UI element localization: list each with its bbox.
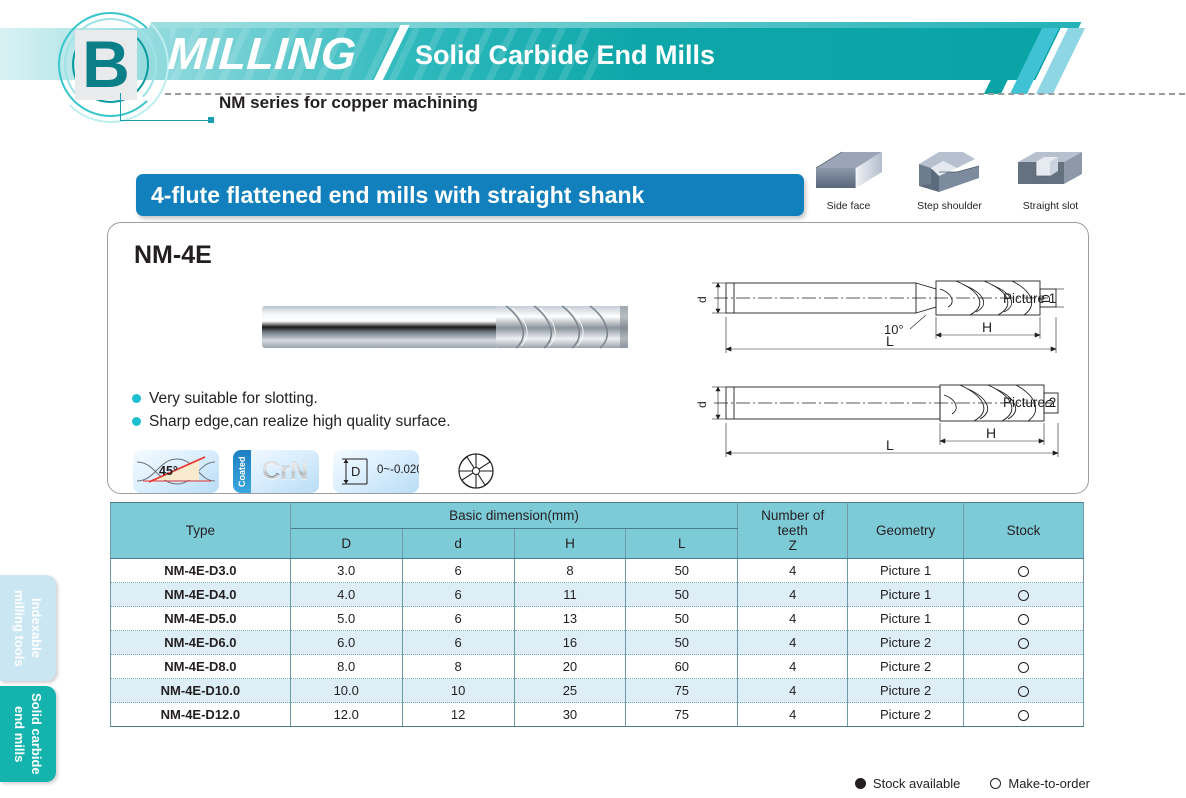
cell-stock — [964, 583, 1084, 607]
cell-type: NM-4E-D8.0 — [111, 655, 291, 679]
col-header-d: d — [402, 529, 514, 559]
dim-H-label: H — [982, 319, 992, 335]
operation-label: Step shoulder — [913, 200, 986, 212]
stock-open-icon — [1018, 590, 1029, 601]
cell-teeth: 4 — [738, 583, 848, 607]
cell-D: 6.0 — [290, 631, 402, 655]
cell-H: 8 — [514, 559, 626, 583]
picture-1-label: Picture 1 — [1003, 291, 1056, 306]
table-row[interactable]: NM-4E-D12.0 12.0 12 30 75 4 Picture 2 — [111, 703, 1084, 727]
product-name: NM-4E — [134, 241, 212, 270]
diameter-tolerance-icon: D — [333, 450, 373, 493]
dim-L-label: L — [886, 437, 894, 453]
cell-teeth: 4 — [738, 607, 848, 631]
tolerance-value: 0~-0.020 — [377, 464, 419, 476]
badge-helix-angle: 45° — [133, 450, 219, 493]
sidebar-tab-solid-carbide-end-mills[interactable]: Solid carbideend mills — [0, 686, 56, 782]
straight-slot-icon — [1014, 148, 1087, 194]
cell-H: 20 — [514, 655, 626, 679]
teeth-line-1: Number of — [740, 508, 845, 523]
sidebar-tab-indexable-milling-tools[interactable]: Indexablemilling tools — [0, 575, 56, 681]
table-row[interactable]: NM-4E-D10.0 10.0 10 25 75 4 Picture 2 — [111, 679, 1084, 703]
coating-type: CrN — [253, 454, 317, 489]
step-shoulder-icon — [913, 148, 986, 194]
stock-open-icon — [1018, 614, 1029, 625]
stock-legend: Stock available Make-to-order — [855, 776, 1090, 791]
bullet-dot-icon — [132, 394, 141, 403]
cell-D: 8.0 — [290, 655, 402, 679]
cell-D: 10.0 — [290, 679, 402, 703]
cell-H: 25 — [514, 679, 626, 703]
make-to-order-icon — [990, 778, 1001, 789]
col-header-H: H — [514, 529, 626, 559]
series-leader-dot — [208, 117, 214, 123]
cell-stock — [964, 559, 1084, 583]
stock-open-icon — [1018, 662, 1029, 673]
cell-D: 3.0 — [290, 559, 402, 583]
dim-L-label: L — [886, 333, 894, 349]
cell-L: 75 — [626, 679, 738, 703]
col-header-basic-dimension: Basic dimension(mm) — [290, 503, 737, 529]
cell-d: 8 — [402, 655, 514, 679]
cell-teeth: 4 — [738, 631, 848, 655]
legend-made-to-order-label: Make-to-order — [1008, 776, 1090, 791]
teeth-line-3: Z — [740, 538, 845, 553]
specification-table-body: NM-4E-D3.0 3.0 6 8 50 4 Picture 1 NM-4E-… — [111, 559, 1084, 727]
table-row[interactable]: NM-4E-D6.0 6.0 6 16 50 4 Picture 2 — [111, 631, 1084, 655]
col-header-teeth: Number of teeth Z — [738, 503, 848, 559]
cell-L: 50 — [626, 559, 738, 583]
feature-item: Very suitable for slotting. — [132, 388, 451, 409]
product-photo — [260, 298, 630, 356]
cell-geometry: Picture 2 — [848, 679, 964, 703]
cell-d: 6 — [402, 559, 514, 583]
picture-2-label: Picture 2 — [1003, 395, 1056, 410]
cell-L: 75 — [626, 703, 738, 727]
cell-type: NM-4E-D12.0 — [111, 703, 291, 727]
cell-H: 30 — [514, 703, 626, 727]
cell-teeth: 4 — [738, 703, 848, 727]
operation-label: Straight slot — [1014, 200, 1087, 212]
operation-icons: Side face Step shoulder Straight slot — [812, 148, 1088, 218]
cell-L: 50 — [626, 583, 738, 607]
feature-text: Sharp edge,can realize high quality surf… — [149, 411, 451, 432]
table-row[interactable]: NM-4E-D8.0 8.0 8 20 60 4 Picture 2 — [111, 655, 1084, 679]
cell-L: 50 — [626, 631, 738, 655]
stock-open-icon — [1018, 638, 1029, 649]
cell-type: NM-4E-D10.0 — [111, 679, 291, 703]
cell-geometry: Picture 2 — [848, 631, 964, 655]
feature-list: Very suitable for slotting. Sharp edge,c… — [132, 388, 451, 434]
cell-teeth: 4 — [738, 559, 848, 583]
badge-coating: Coated CrN — [233, 450, 319, 493]
col-header-geometry: Geometry — [848, 503, 964, 559]
legend-available-label: Stock available — [873, 776, 960, 791]
cell-geometry: Picture 2 — [848, 703, 964, 727]
cell-geometry: Picture 1 — [848, 559, 964, 583]
svg-text:D: D — [351, 464, 360, 479]
teeth-line-2: teeth — [740, 523, 845, 538]
cell-type: NM-4E-D3.0 — [111, 559, 291, 583]
dim-d-label: d — [695, 401, 709, 408]
bullet-dot-icon — [132, 417, 141, 426]
cell-stock — [964, 655, 1084, 679]
cell-type: NM-4E-D4.0 — [111, 583, 291, 607]
cell-d: 6 — [402, 607, 514, 631]
cell-D: 12.0 — [290, 703, 402, 727]
cell-stock — [964, 703, 1084, 727]
stock-available-icon — [855, 778, 866, 789]
cell-stock — [964, 679, 1084, 703]
side-face-icon — [812, 148, 885, 194]
stock-open-icon — [1018, 710, 1029, 721]
page-header: B MILLING Solid Carbide End Mills NM ser… — [0, 0, 1186, 130]
cell-L: 50 — [626, 607, 738, 631]
product-card: NM-4E — [107, 222, 1089, 494]
col-header-type: Type — [111, 503, 291, 559]
product-title-bar: 4-flute flattened end mills with straigh… — [136, 174, 804, 216]
operation-straight-slot: Straight slot — [1014, 148, 1087, 218]
spec-badges: 45° Coated CrN D 0~-0.020 — [133, 450, 519, 493]
col-header-stock: Stock — [964, 503, 1084, 559]
dim-d-label: d — [695, 296, 709, 303]
feature-text: Very suitable for slotting. — [149, 388, 318, 409]
operation-side-face: Side face — [812, 148, 885, 218]
logo-letter: B — [75, 24, 137, 104]
cell-H: 16 — [514, 631, 626, 655]
series-note: NM series for copper machining — [219, 93, 478, 113]
table-row[interactable]: NM-4E-D4.0 4.0 6 11 50 4 Picture 1 — [111, 583, 1084, 607]
cell-d: 12 — [402, 703, 514, 727]
svg-text:45°: 45° — [159, 464, 178, 478]
cell-d: 10 — [402, 679, 514, 703]
technical-drawing-picture-1: d D 10° H L — [688, 265, 1080, 357]
cell-H: 11 — [514, 583, 626, 607]
series-leader-line — [120, 93, 210, 121]
four-flute-section-icon — [433, 450, 519, 493]
specification-table: Type Basic dimension(mm) Number of teeth… — [110, 502, 1084, 727]
cell-teeth: 4 — [738, 655, 848, 679]
cell-d: 6 — [402, 631, 514, 655]
cell-geometry: Picture 1 — [848, 583, 964, 607]
cell-D: 5.0 — [290, 607, 402, 631]
dim-H-label: H — [986, 425, 996, 441]
sidebar-tab-label: Indexablemilling tools — [11, 590, 45, 667]
stock-open-icon — [1018, 566, 1029, 577]
category-title: MILLING — [166, 30, 358, 78]
cell-L: 60 — [626, 655, 738, 679]
cell-D: 4.0 — [290, 583, 402, 607]
cell-stock — [964, 607, 1084, 631]
operation-label: Side face — [812, 200, 885, 212]
table-row[interactable]: NM-4E-D5.0 5.0 6 13 50 4 Picture 1 — [111, 607, 1084, 631]
col-header-L: L — [626, 529, 738, 559]
cell-type: NM-4E-D5.0 — [111, 607, 291, 631]
cell-geometry: Picture 2 — [848, 655, 964, 679]
cell-type: NM-4E-D6.0 — [111, 631, 291, 655]
sidebar-tab-label: Solid carbideend mills — [11, 693, 45, 775]
cell-teeth: 4 — [738, 679, 848, 703]
cell-d: 6 — [402, 583, 514, 607]
coated-strip-label: Coated — [233, 450, 251, 493]
header-subtitle: Solid Carbide End Mills — [415, 38, 715, 72]
operation-step-shoulder: Step shoulder — [913, 148, 986, 218]
table-row[interactable]: NM-4E-D3.0 3.0 6 8 50 4 Picture 1 — [111, 559, 1084, 583]
technical-drawing-picture-2: d D H L — [688, 371, 1080, 459]
badge-diameter-tolerance: D 0~-0.020 — [333, 450, 419, 493]
cell-H: 13 — [514, 607, 626, 631]
cell-geometry: Picture 1 — [848, 607, 964, 631]
col-header-D: D — [290, 529, 402, 559]
stock-open-icon — [1018, 686, 1029, 697]
helix-angle-icon: 45° — [133, 450, 219, 493]
badge-flute-section — [433, 450, 519, 493]
cell-stock — [964, 631, 1084, 655]
feature-item: Sharp edge,can realize high quality surf… — [132, 411, 451, 432]
